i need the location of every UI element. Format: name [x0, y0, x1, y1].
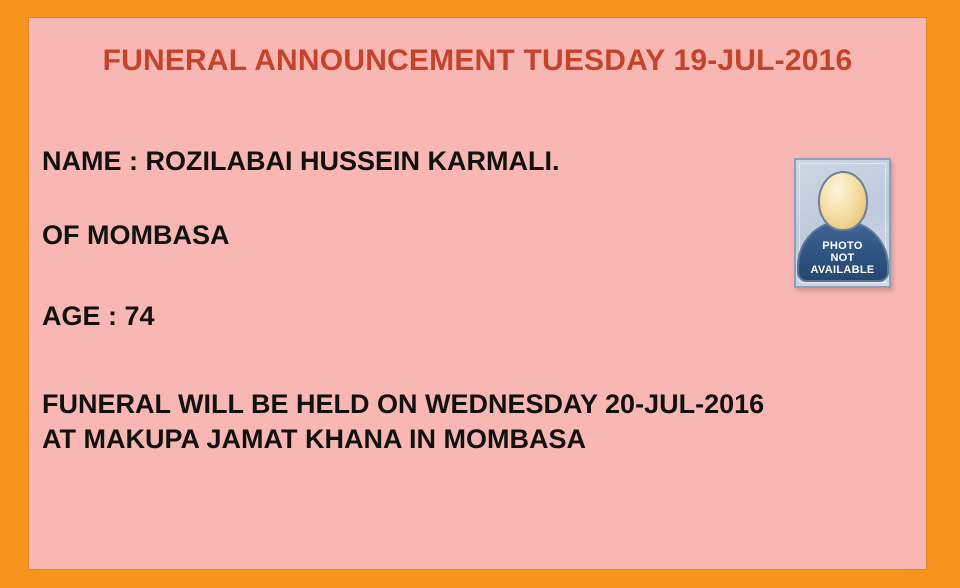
photo-not-available-placeholder: PHOTO NOT AVAILABLE [794, 158, 891, 288]
photo-placeholder-caption: PHOTO NOT AVAILABLE [796, 241, 889, 277]
deceased-name-line: NAME : ROZILABAI HUSSEIN KARMALI. [42, 148, 559, 175]
announcement-poster: FUNERAL ANNOUNCEMENT TUESDAY 19-JUL-2016… [0, 0, 960, 588]
deceased-age-line: AGE : 74 [42, 303, 155, 330]
funeral-date-line: FUNERAL WILL BE HELD ON WEDNESDAY 20-JUL… [42, 391, 764, 418]
announcement-panel: FUNERAL ANNOUNCEMENT TUESDAY 19-JUL-2016… [29, 18, 926, 569]
page-title: FUNERAL ANNOUNCEMENT TUESDAY 19-JUL-2016 [29, 44, 926, 78]
funeral-venue-line: AT MAKUPA JAMAT KHANA IN MOMBASA [42, 426, 764, 453]
avatar-head-icon [818, 171, 868, 231]
funeral-details-block: FUNERAL WILL BE HELD ON WEDNESDAY 20-JUL… [42, 391, 764, 461]
photo-caption-line-3: AVAILABLE [796, 265, 889, 277]
deceased-city-line: OF MOMBASA [42, 222, 229, 249]
